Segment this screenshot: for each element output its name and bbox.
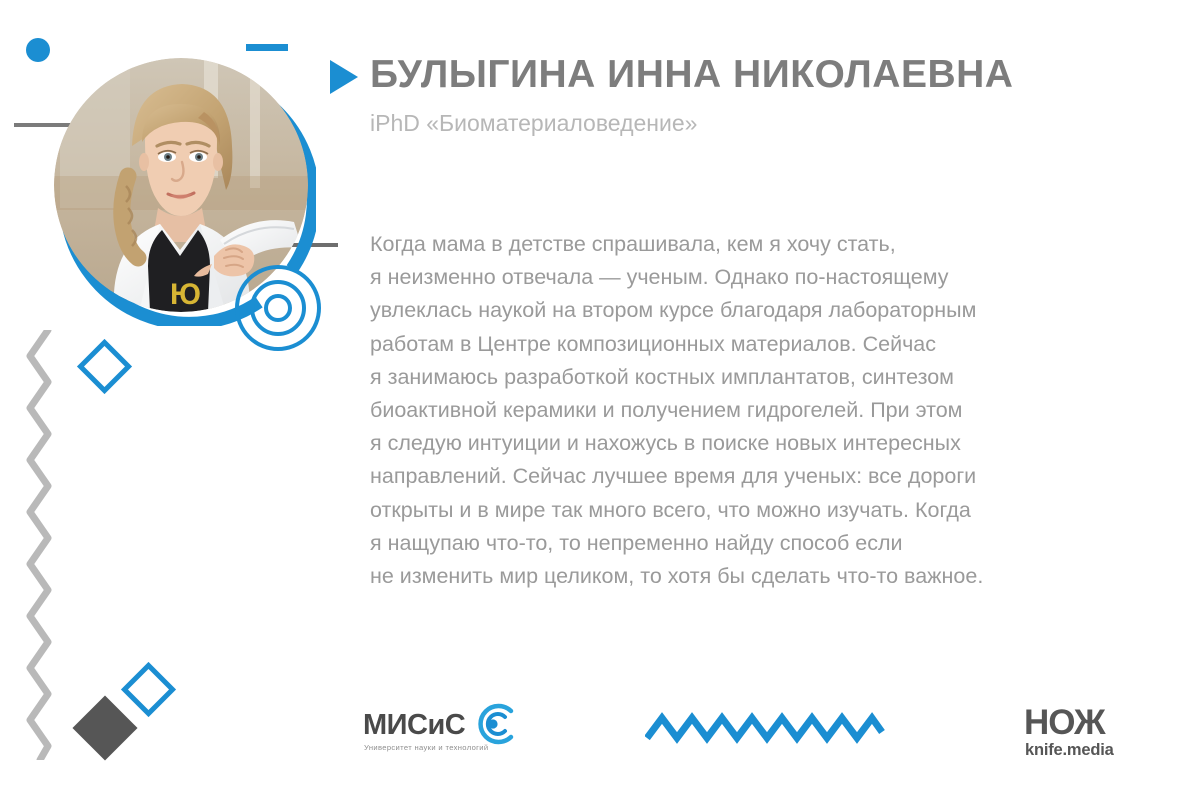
gray-zigzag-icon (22, 330, 62, 765)
blue-triangle-icon (330, 60, 358, 94)
misis-logo: МИСиС Университет науки и технологий (363, 703, 523, 759)
quote-line: направлений. Сейчас лучшее время для уче… (370, 460, 1130, 493)
knife-media-logo: НОЖ knife.media (1024, 706, 1144, 758)
svg-text:Ю: Ю (170, 278, 201, 311)
quote-line: увлеклась наукой на втором курсе благода… (370, 294, 1130, 327)
quote-line: не изменить мир целиком, то хотя бы сдел… (370, 560, 1130, 593)
quote-line: я следую интуиции и нахожусь в поиске но… (370, 427, 1130, 460)
page-title: БУЛЫГИНА ИННА НИКОЛАЕВНА (370, 53, 1170, 97)
quote-line: я неизменно отвечала — ученым. Однако по… (370, 261, 1130, 294)
blue-diamond-outline-icon-1 (77, 339, 132, 394)
misis-wordmark: МИСиС (363, 709, 465, 742)
knife-wordmark: НОЖ (1024, 706, 1105, 740)
quote-line: биоактивной керамики и получением гидрог… (370, 394, 1130, 427)
blue-diamond-outline-icon-2 (121, 662, 176, 717)
misis-arc-mark-icon (467, 703, 519, 745)
quote-paragraph: Когда мама в детстве спрашивала, кем я х… (370, 228, 1130, 593)
concentric-circles-icon (232, 262, 324, 354)
knife-tagline: knife.media (1025, 741, 1114, 760)
quote-line: я нащупаю что-то, то непременно найду сп… (370, 527, 1130, 560)
quote-line: я занимаюсь разработкой костных импланта… (370, 361, 1130, 394)
quote-line: открыты и в мире так много всего, что мо… (370, 494, 1130, 527)
quote-line: Когда мама в детстве спрашивала, кем я х… (370, 228, 1130, 261)
blue-zigzag-icon (645, 708, 885, 755)
gray-diamond-filled-icon (72, 695, 137, 760)
profile-card: Ю (0, 0, 1200, 800)
quote-line: работам в Центре композиционных материал… (370, 328, 1130, 361)
degree-subtitle: iPhD «Биоматериаловедение» (370, 110, 697, 137)
